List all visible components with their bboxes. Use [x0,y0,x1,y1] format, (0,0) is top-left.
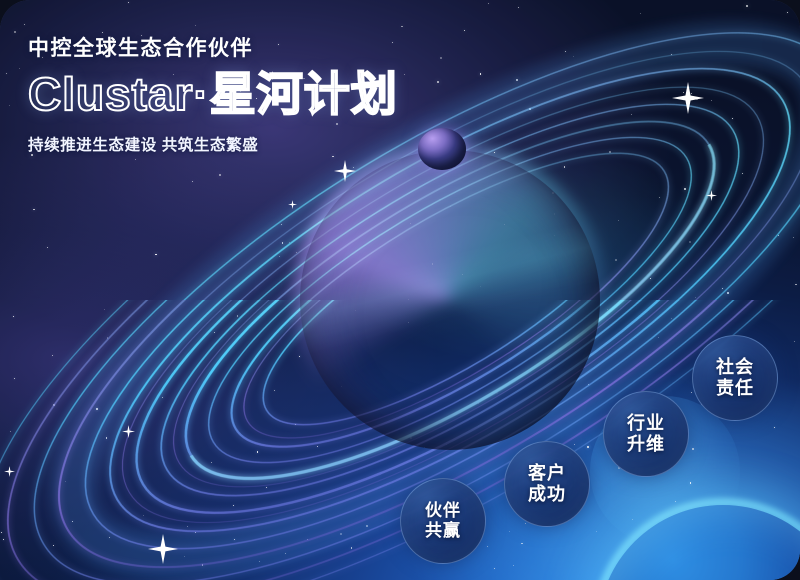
bubble-label-line2: 升维 [627,434,665,455]
bubble-label-line1: 客户 [528,463,566,484]
bubble-social-responsibility[interactable]: 社会责任 [692,335,778,421]
eyebrow-text: 中控全球生态合作伙伴 [28,36,398,61]
bubble-label-line1: 行业 [627,413,665,434]
bubble-label-line2: 责任 [716,378,754,399]
bubble-industry-upgrade[interactable]: 行业升维 [603,391,689,477]
subtitle-text: 持续推进生态建设 共筑生态繁盛 [28,133,398,155]
bubble-partner-win-win[interactable]: 伙伴共赢 [400,478,486,564]
bubble-label-line1: 伙伴 [425,501,461,521]
bubble-label-line1: 社会 [716,357,754,378]
promo-banner: 中控全球生态合作伙伴 Clustar·星河计划 持续推进生态建设 共筑生态繁盛 … [0,0,800,580]
bubble-label-line2: 共赢 [425,521,461,541]
sparkle-top-right [672,82,704,114]
sparkle-mid-left [122,425,135,438]
sparkle-left-edge [4,466,15,477]
small-moon [418,128,466,170]
planet-atmosphere-band [300,150,600,450]
sparkle-lower-left [148,534,178,564]
sparkle-upper-left-dot [288,200,297,209]
sparkle-right-small [706,190,717,201]
page-title: Clustar·星河计划 [28,69,398,121]
planet-body [300,150,600,450]
main-planet [300,150,600,450]
headline-block: 中控全球生态合作伙伴 Clustar·星河计划 持续推进生态建设 共筑生态繁盛 [28,36,398,155]
bubble-label-line2: 成功 [528,484,566,505]
bubble-customer-success[interactable]: 客户成功 [504,441,590,527]
